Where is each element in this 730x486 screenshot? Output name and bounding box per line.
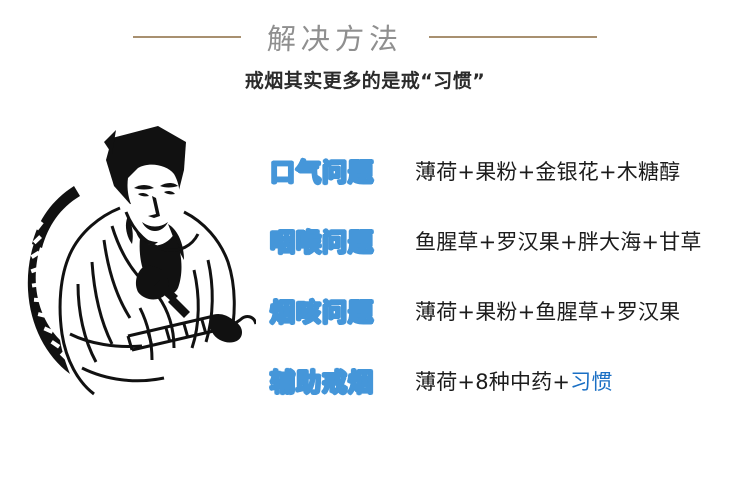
row-heading-yanhou: 咽喉问题 bbox=[270, 223, 415, 259]
row-heading-kouqi: 口气问题 bbox=[270, 153, 415, 189]
row-desc-text: 薄荷+果粉+金银花+木糖醇 bbox=[415, 160, 680, 184]
page-subtitle: 戒烟其实更多的是戒“习惯” bbox=[0, 66, 730, 93]
row-desc-text: 薄荷+8种中药+ bbox=[415, 370, 570, 394]
solution-method-infographic: 解决方法 戒烟其实更多的是戒“习惯” bbox=[0, 0, 730, 486]
hands-and-brush bbox=[136, 266, 190, 318]
list-item: 咽喉问题 鱼腥草+罗汉果+胖大海+甘草 bbox=[270, 206, 720, 276]
row-desc-highlight: 习惯 bbox=[570, 370, 612, 394]
solution-rows: 口气问题 薄荷+果粉+金银花+木糖醇 咽喉问题 鱼腥草+罗汉果+胖大海+甘草 烟… bbox=[270, 136, 720, 416]
row-desc-yanke: 薄荷+果粉+鱼腥草+罗汉果 bbox=[415, 296, 720, 326]
row-desc-fuzhu: 薄荷+8种中药+习惯 bbox=[415, 366, 720, 396]
bamboo-fan-halo bbox=[28, 186, 80, 374]
scroll-shadow bbox=[209, 315, 242, 342]
decorative-rule-left bbox=[133, 36, 241, 38]
list-item: 烟咳问题 薄荷+果粉+鱼腥草+罗汉果 bbox=[270, 276, 720, 346]
row-desc-yanhou: 鱼腥草+罗汉果+胖大海+甘草 bbox=[415, 226, 720, 256]
row-desc-text: 薄荷+果粉+鱼腥草+罗汉果 bbox=[415, 300, 680, 324]
list-item: 辅助戒烟 薄荷+8种中药+习惯 bbox=[270, 346, 720, 416]
decorative-rule-right bbox=[429, 36, 597, 38]
row-heading-yanke: 烟咳问题 bbox=[270, 293, 415, 329]
scholar-illustration bbox=[8, 120, 256, 400]
list-item: 口气问题 薄荷+果粉+金银花+木糖醇 bbox=[270, 136, 720, 206]
row-desc-text: 鱼腥草+罗汉果+胖大海+甘草 bbox=[415, 230, 702, 254]
page-title: 解决方法 bbox=[266, 16, 403, 58]
header: 解决方法 bbox=[0, 14, 730, 60]
row-heading-fuzhu: 辅助戒烟 bbox=[270, 363, 415, 399]
row-desc-kouqi: 薄荷+果粉+金银花+木糖醇 bbox=[415, 156, 720, 186]
